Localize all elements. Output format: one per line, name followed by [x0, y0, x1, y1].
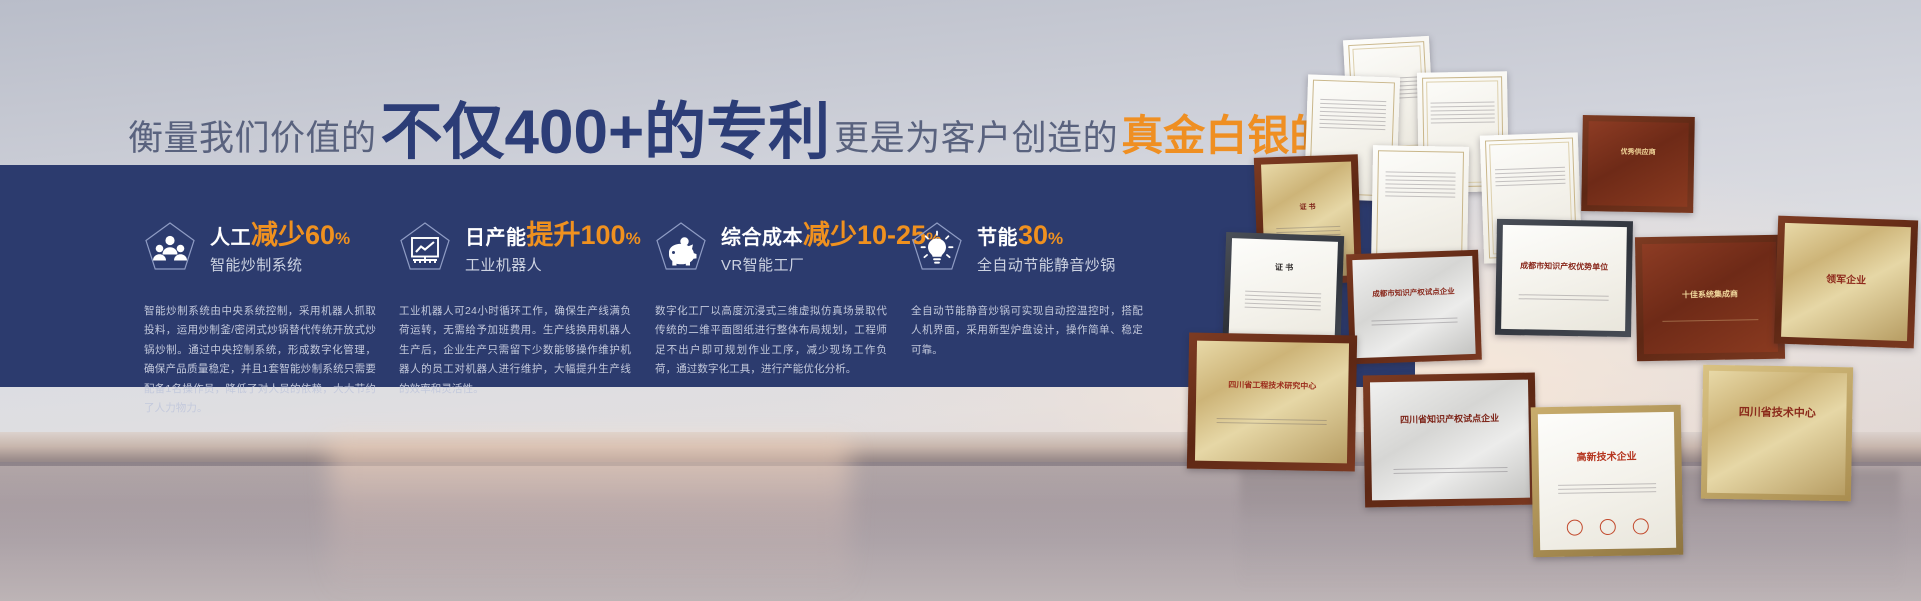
feature-title-accent-3: 减少 — [803, 220, 857, 250]
piggy-bank-icon — [655, 221, 707, 277]
feature-title-3: 综合成本减少10-25% — [721, 227, 941, 249]
feature-title-label-1: 人工 — [210, 227, 251, 249]
certificate-title: 高新技术企业 — [1538, 447, 1674, 464]
feature-title-accent-2: 提升 — [527, 220, 581, 250]
people-group-icon — [144, 221, 196, 277]
headline-middle: 更是为客户创造的 — [834, 110, 1118, 161]
certificate-title: 成都市知识产权优势单位 — [1502, 260, 1626, 273]
feature-title-2: 日产能提升100% — [465, 227, 641, 249]
certificate-pile: 证 书 优秀供应商 证 书 成都市知识产权试点企业 成都市知识产权优势单位 — [1196, 38, 1921, 558]
feature-body-2: 工业机器人可24小时循环工作，确保生产线满负荷运转，无需给予加班费用。生产线换用… — [399, 302, 631, 399]
sun-reflection-path — [330, 440, 850, 601]
headline-emphasis: 不仅400+的专利 — [381, 81, 831, 171]
certificate-title: 四川省技术中心 — [1708, 403, 1846, 421]
feature-subtitle-1: 智能炒制系统 — [210, 258, 350, 273]
certificate-title: 领军企业 — [1783, 268, 1909, 287]
feature-title-unit-2: % — [626, 229, 641, 248]
feature-title-number-1: 60 — [305, 220, 335, 250]
certificate-item: 四川省知识产权试点企业 — [1363, 373, 1537, 508]
certificate-title: 四川省工程技术研究中心 — [1196, 379, 1348, 393]
feature-title-number-4: 30 — [1018, 220, 1048, 250]
certificate-title: 四川省知识产权试点企业 — [1371, 410, 1529, 426]
feature-title-unit-1: % — [335, 229, 350, 248]
feature-title-label-4: 节能 — [977, 227, 1018, 249]
certificate-item: 四川省工程技术研究中心 — [1187, 333, 1357, 472]
feature-card-3[interactable]: 综合成本减少10-25% VR智能工厂 数字化工厂以高度沉浸式三维虚拟仿真场景取… — [655, 165, 923, 387]
feature-card-1[interactable]: 人工减少60% 智能炒制系统 智能炒制系统由中央系统控制，采用机器人抓取投料，运… — [144, 165, 412, 387]
feature-title-accent-1: 减少 — [251, 220, 305, 250]
certificate-item: 十佳系统集成商 — [1635, 235, 1785, 362]
feature-title-unit-4: % — [1048, 229, 1063, 248]
chart-board-icon — [399, 221, 451, 277]
feature-body-1: 智能炒制系统由中央系统控制，采用机器人抓取投料，运用炒制釜/密闭式炒锅替代传统开… — [144, 302, 376, 419]
feature-card-4[interactable]: 节能30% 全自动节能静音炒锅 全自动节能静音炒锅可实现自动控温控时，搭配人机界… — [911, 165, 1179, 387]
feature-title-1: 人工减少60% — [210, 227, 350, 249]
certificate-title: 证 书 — [1231, 260, 1337, 275]
certificate-title: 成都市知识产权试点企业 — [1353, 285, 1473, 300]
certificate-item: 高新技术企业 — [1531, 405, 1684, 558]
certificate-title: 十佳系统集成商 — [1643, 288, 1777, 301]
certificate-item: 四川省技术中心 — [1701, 365, 1853, 502]
feature-card-2[interactable]: 日产能提升100% 工业机器人 工业机器人可24小时循环工作，确保生产线满负荷运… — [399, 165, 667, 387]
certificate-item: 优秀供应商 — [1581, 115, 1695, 213]
certificate-title: 证 书 — [1262, 200, 1352, 213]
lightbulb-icon — [911, 221, 963, 277]
feature-title-number-2: 100 — [581, 220, 626, 250]
certificate-item: 领军企业 — [1774, 216, 1918, 349]
feature-title-label-3: 综合成本 — [721, 227, 803, 249]
headline-lead: 衡量我们价值的 — [128, 110, 377, 161]
feature-title-4: 节能30% — [977, 227, 1063, 249]
feature-title-label-2: 日产能 — [465, 227, 527, 249]
feature-body-3: 数字化工厂以高度沉浸式三维虚拟仿真场景取代传统的二维平面图纸进行整体布局规划，工… — [655, 302, 887, 380]
certificate-item: 成都市知识产权试点企业 — [1346, 250, 1482, 365]
feature-subtitle-3: VR智能工厂 — [721, 258, 941, 273]
feature-body-4: 全自动节能静音炒锅可实现自动控温控时，搭配人机界面，采用新型炉盘设计，操作简单、… — [911, 302, 1143, 360]
feature-subtitle-4: 全自动节能静音炒锅 — [977, 258, 1116, 273]
certificate-item: 成都市知识产权优势单位 — [1495, 219, 1633, 337]
feature-subtitle-2: 工业机器人 — [465, 258, 641, 273]
certificate-title: 优秀供应商 — [1588, 146, 1688, 158]
